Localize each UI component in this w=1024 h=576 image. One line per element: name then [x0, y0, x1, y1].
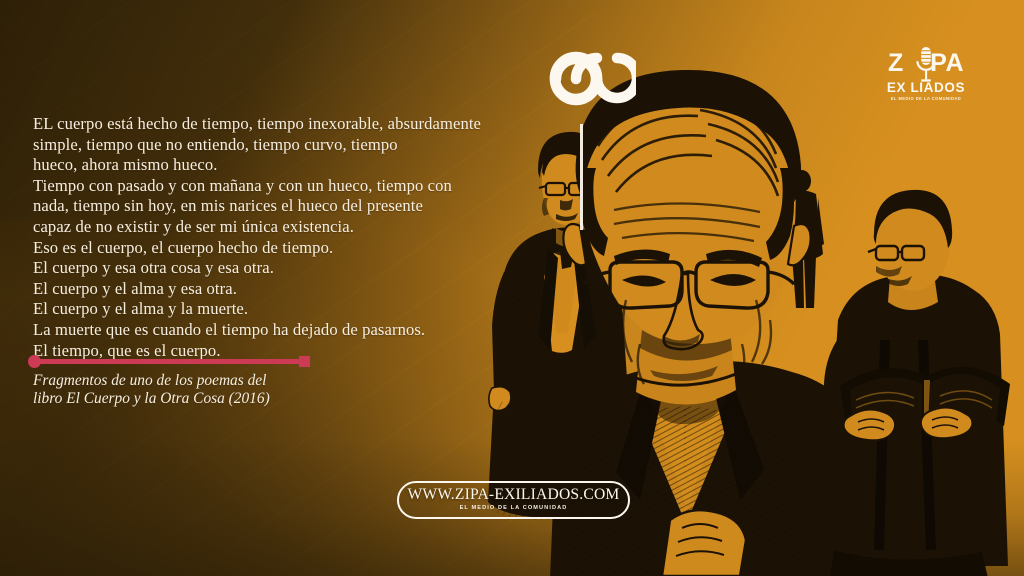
poem-line: Eso es el cuerpo, el cuerpo hecho de tie… — [33, 238, 553, 259]
poem-line: La muerte que es cuando el tiempo ha dej… — [33, 320, 553, 341]
divider-bar — [34, 359, 310, 364]
poem-line: El cuerpo y el alma y esa otra. — [33, 279, 553, 300]
poem-line: hueco, ahora mismo hueco. — [33, 155, 553, 176]
poem-line: nada, tiempo sin hoy, en mis narices el … — [33, 196, 553, 217]
credit-line-1: Fragmentos de uno de los poemas del — [33, 372, 363, 390]
poem-line: El cuerpo y esa otra cosa y esa otra. — [33, 258, 553, 279]
round-dot-icon — [28, 355, 41, 368]
poem-line: simple, tiempo que no entiendo, tiempo c… — [33, 135, 553, 156]
poem-line: EL cuerpo está hecho de tiempo, tiempo i… — [33, 114, 553, 135]
poem-credit: Fragmentos de uno de los poemas del libr… — [33, 372, 363, 409]
poem-line: capaz de no existir y de ser mi única ex… — [33, 217, 553, 238]
figure-reading-man — [822, 190, 1010, 576]
credit-line-2: libro El Cuerpo y la Otra Cosa (2016) — [33, 390, 363, 408]
website-tagline: EL MEDIO DE LA COMUNIDAD — [460, 504, 568, 513]
poem-line: El cuerpo y el alma y la muerte. — [33, 299, 553, 320]
logo-letters-pa: PA — [930, 50, 964, 76]
logo-row-top: Z PA — [880, 50, 972, 76]
poem-text: EL cuerpo está hecho de tiempo, tiempo i… — [33, 114, 553, 361]
website-url: WWW.ZIPA-EXILIADOS.COM — [407, 487, 619, 503]
logo-letter-z: Z — [888, 50, 904, 76]
zipa-logo[interactable]: Z PA EX LIADOS EL MEDIO DE LA COMUNIDAD — [880, 50, 972, 104]
poem-line: Tiempo con pasado y con mañana y con un … — [33, 176, 553, 197]
brand-mark — [526, 28, 636, 218]
square-cap-icon — [299, 356, 310, 367]
divider — [28, 355, 310, 367]
brand-mark-stem — [580, 124, 583, 230]
poster-canvas: EL cuerpo está hecho de tiempo, tiempo i… — [0, 0, 1024, 576]
website-url-badge[interactable]: WWW.ZIPA-EXILIADOS.COM EL MEDIO DE LA CO… — [397, 481, 630, 519]
logo-tagline: EL MEDIO DE LA COMUNIDAD — [880, 95, 972, 102]
infinity-spiral-icon — [526, 28, 636, 128]
